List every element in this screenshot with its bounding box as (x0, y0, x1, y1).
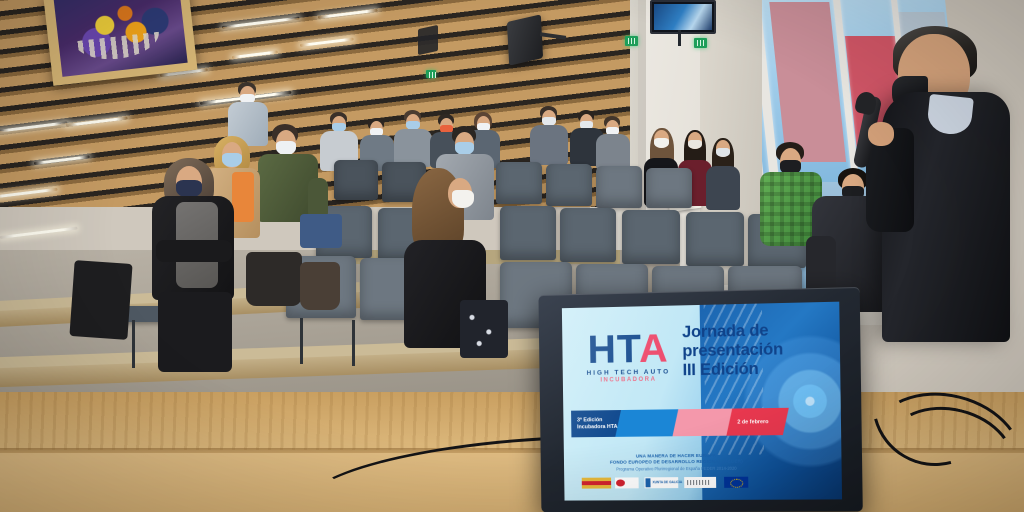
led-strip (0, 227, 78, 239)
conference-photo-scene: HTA HIGH TECH AUTO INCUBADORA Jornada de… (0, 0, 1024, 512)
auditorium-chair (500, 206, 556, 260)
slide-footer-text: UNA MANERA DE HACER EUROPA FONDO EUROPEO… (579, 452, 774, 472)
slide-title-line-2: presentación (682, 339, 813, 360)
ceiling-speaker (507, 14, 543, 65)
auditorium-chair (686, 212, 744, 266)
presentation-monitor[interactable]: HTA HIGH TECH AUTO INCUBADORA Jornada de… (538, 287, 862, 512)
auditorium-chair (622, 210, 680, 264)
slide-title-line-1: Jornada de (682, 320, 813, 342)
auditorium-chair (596, 166, 642, 208)
edition-label-line-2: Incubadora HTA (577, 424, 617, 430)
footer-line-2: FONDO EUROPEO DE DESARROLLO REGIONAL (FE… (580, 458, 775, 465)
auditorium-chair (646, 168, 692, 208)
auditorium-chair (546, 164, 592, 206)
xunta-logo-label: XUNTA DE GALICIA (652, 480, 682, 484)
handbag (246, 252, 302, 306)
chair-leg (352, 320, 355, 366)
color-bar-edition-label: 3ª Edición Incubadora HTA (577, 417, 617, 431)
presenter-hand (868, 122, 894, 146)
slide-title-line-3: III Edición (682, 359, 813, 380)
chair-leg (132, 320, 135, 368)
sponsor-logo-row: XUNTA DE GALICIA (580, 474, 779, 491)
ceiling-speaker (418, 25, 438, 55)
union-europea-logo (724, 477, 748, 488)
exit-sign-icon (426, 70, 436, 78)
camaras-logo (684, 477, 716, 488)
auditorium-chair (560, 208, 616, 262)
hta-logo-subtagline: INCUBADORA (577, 376, 679, 384)
hta-logo: HTA HIGH TECH AUTO INCUBADORA (577, 329, 680, 384)
auditorium-chair (334, 160, 378, 200)
coat-on-chair (69, 260, 132, 340)
red-es-logo (615, 477, 639, 488)
slide-title: Jornada de presentación III Edición (682, 320, 814, 379)
color-bar-date-label: 2 de febrero (737, 419, 768, 426)
edition-label-line-1: 3ª Edición (577, 417, 602, 423)
chair-leg (300, 318, 303, 364)
exit-sign-icon (694, 38, 707, 48)
abstract-painting (53, 0, 187, 77)
wall-mounted-monitor (650, 0, 716, 34)
exit-sign-icon (625, 36, 638, 46)
monitor-mount-arm (678, 30, 681, 46)
hta-logo-letter-h: H (587, 328, 617, 372)
slide-color-bar: 3ª Edición Incubadora HTA 2 de febrero (571, 408, 782, 437)
handbag (300, 262, 340, 310)
presentation-slide: HTA HIGH TECH AUTO INCUBADORA Jornada de… (562, 302, 842, 501)
hta-logo-letter-t: T (617, 327, 640, 371)
gobierno-de-espana-logo (582, 478, 611, 489)
hta-logo-letter-a: A (639, 327, 669, 371)
auditorium-chair (496, 162, 542, 204)
